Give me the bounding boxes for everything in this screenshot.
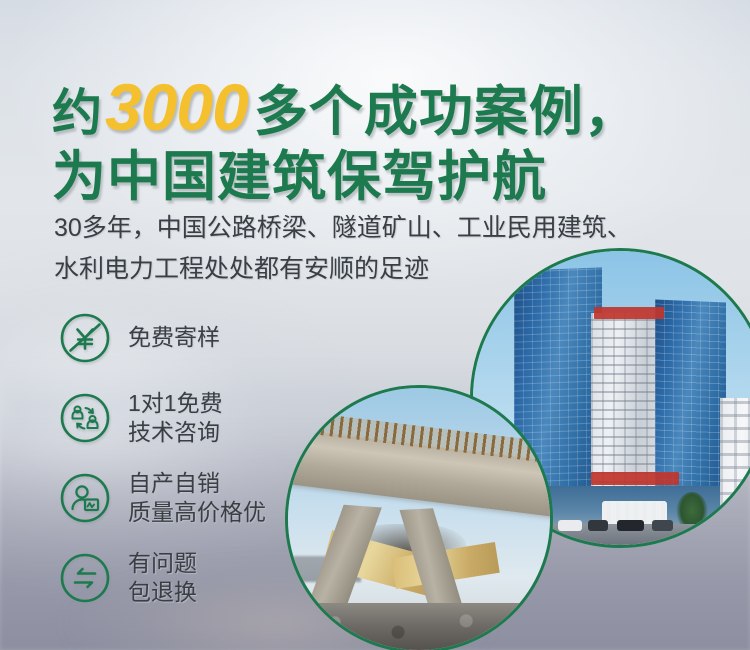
headline: 约3000多个成功案例， 为中国建筑保驾护航	[52, 74, 639, 204]
return-exchange-icon	[58, 551, 112, 605]
building-car	[652, 520, 673, 531]
feature-item-free-sample: 免费寄样	[58, 300, 358, 376]
feature-label-line: 技术咨询	[128, 418, 223, 447]
bridge-photo	[285, 385, 553, 650]
bridge-photo-scene	[288, 388, 550, 650]
feature-label-line: 质量高价格优	[128, 498, 266, 527]
feature-label-line: 免费寄样	[128, 323, 220, 352]
feature-label-line: 有问题	[128, 549, 197, 578]
headline-prefix: 约	[52, 85, 103, 141]
building-car	[617, 520, 643, 531]
building-car	[588, 520, 609, 531]
feature-label: 有问题 包退换	[128, 549, 197, 608]
headline-suffix: 多个成功案例，	[254, 82, 639, 142]
subtitle-line-1: 30多年，中国公路桥梁、隧道矿山、工业民用建筑、	[54, 208, 632, 249]
headline-line-1: 约3000多个成功案例，	[52, 74, 639, 140]
feature-label-line: 包退换	[128, 578, 197, 607]
feature-label-line: 自产自销	[128, 469, 266, 498]
headline-line-2: 为中国建筑保驾护航	[52, 150, 639, 204]
free-sample-icon	[58, 311, 112, 365]
building-side-block	[720, 398, 750, 521]
promo-banner: 约3000多个成功案例， 为中国建筑保驾护航 30多年，中国公路桥梁、隧道矿山、…	[0, 0, 750, 650]
one-to-one-consult-icon	[58, 391, 112, 445]
building-top-sign	[594, 307, 665, 319]
self-production-icon	[58, 471, 112, 525]
building-entrance-sign	[591, 472, 679, 485]
feature-label-line: 1对1免费	[128, 389, 223, 418]
feature-label: 自产自销 质量高价格优	[128, 469, 266, 528]
bridge-ground-rubble	[288, 603, 550, 650]
headline-number: 3000	[103, 70, 254, 144]
feature-label: 免费寄样	[128, 323, 220, 352]
feature-label: 1对1免费 技术咨询	[128, 389, 223, 448]
building-car	[558, 520, 582, 531]
